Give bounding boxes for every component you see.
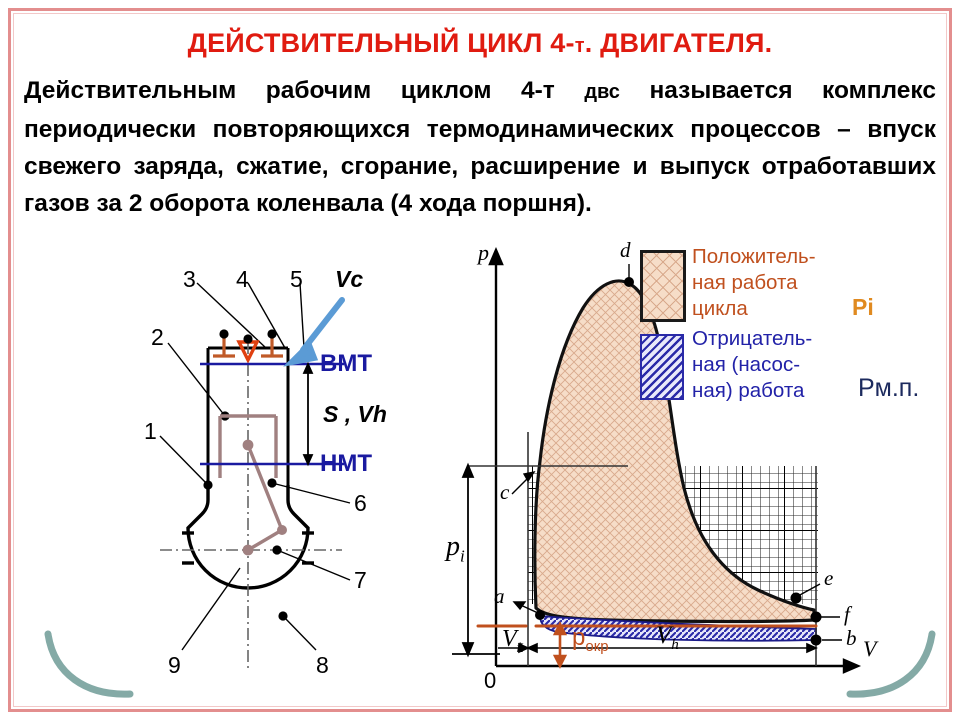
- body-part-1: Действительным рабочим циклом 4-т: [24, 77, 584, 104]
- cylinder-diagram: 3 4 5 2 1 6 7 8 9 Vc ВМТ НМТ S , Vh: [120, 238, 460, 698]
- point-label-d: d: [620, 238, 631, 263]
- legend-text-negative: Отрицатель- ная (насос- ная) работа: [692, 326, 812, 404]
- point-label-a: a: [494, 584, 505, 609]
- legend-neg-line-2: ная (насос-: [692, 352, 812, 378]
- legend-symbol-pmp: Рм.п.: [858, 374, 919, 403]
- title-small: т: [575, 35, 585, 57]
- label-pi-sub: i: [460, 547, 465, 566]
- label-vc: Vñ: [502, 626, 524, 657]
- label-vc-base: V: [502, 626, 517, 652]
- legend-text-positive: Положитель- ная работа цикла: [692, 244, 816, 322]
- point-label-e: e: [824, 566, 833, 591]
- legend-pos-line-3: цикла: [692, 296, 816, 322]
- callout-label-6: 6: [354, 490, 367, 517]
- point-label-c: c: [500, 480, 509, 505]
- legend-symbol-pi: Pi: [852, 294, 874, 321]
- label-pi: pi: [446, 531, 465, 567]
- slide-root: ДЕЙСТВИТЕЛЬНЫЙ ЦИКЛ 4-т. ДВИГАТЕЛЯ. Дейс…: [0, 0, 960, 720]
- hmt-label: НМТ: [320, 450, 372, 478]
- point-label-f: f: [844, 602, 850, 627]
- callout-label-5: 5: [290, 266, 303, 293]
- piston-pin: [243, 440, 254, 451]
- crank-center: [243, 545, 254, 556]
- title-main: ДЕЙСТВИТЕЛЬНЫЙ ЦИКЛ 4-: [188, 28, 575, 58]
- callout-label-2: 2: [151, 324, 164, 351]
- crank-pin: [277, 525, 287, 535]
- legend-swatch-negative: [640, 334, 684, 400]
- label-vc-sub: ñ: [517, 641, 524, 656]
- label-pokr: pокр: [572, 624, 609, 655]
- title-tail: . ДВИГАТЕЛЯ.: [585, 28, 773, 58]
- label-pokr-base: p: [572, 624, 585, 651]
- callout-label-4: 4: [236, 266, 249, 293]
- label-pi-base: p: [446, 531, 460, 562]
- callout-label-3: 3: [183, 266, 196, 293]
- bmt-label: ВМТ: [320, 350, 372, 378]
- stroke-dimension-arrow: [304, 364, 312, 464]
- body-paragraph: Действительным рабочим циклом 4-т двс на…: [24, 72, 936, 222]
- body-dvs: двс: [584, 81, 620, 103]
- callout-label-9: 9: [168, 652, 181, 679]
- callout-label-8: 8: [316, 652, 329, 679]
- decorative-arc-right: [820, 630, 950, 700]
- axis-label-p: p: [478, 240, 489, 266]
- label-vh: Vh: [656, 622, 679, 654]
- origin-label: 0: [484, 668, 496, 694]
- label-pokr-sub: окр: [585, 638, 608, 655]
- vc-label: Vc: [335, 266, 363, 293]
- legend-pos-line-2: ная работа: [692, 270, 816, 296]
- legend-neg-line-1: Отрицатель-: [692, 326, 812, 352]
- callout-label-1: 1: [144, 418, 157, 445]
- pokr-dimension-arrow: [555, 624, 565, 666]
- legend-pos-line-1: Положитель-: [692, 244, 816, 270]
- decorative-arc-left: [30, 630, 160, 700]
- legend-swatch-positive: [640, 250, 686, 322]
- legend-neg-line-3: ная) работа: [692, 378, 812, 404]
- v-axis: [496, 660, 858, 672]
- stroke-label: S , Vh: [323, 401, 387, 428]
- label-vh-base: V: [656, 622, 671, 649]
- page-title: ДЕЙСТВИТЕЛЬНЫЙ ЦИКЛ 4-т. ДВИГАТЕЛЯ.: [20, 28, 940, 59]
- callout-label-7: 7: [354, 567, 367, 594]
- label-vh-sub: h: [671, 637, 679, 653]
